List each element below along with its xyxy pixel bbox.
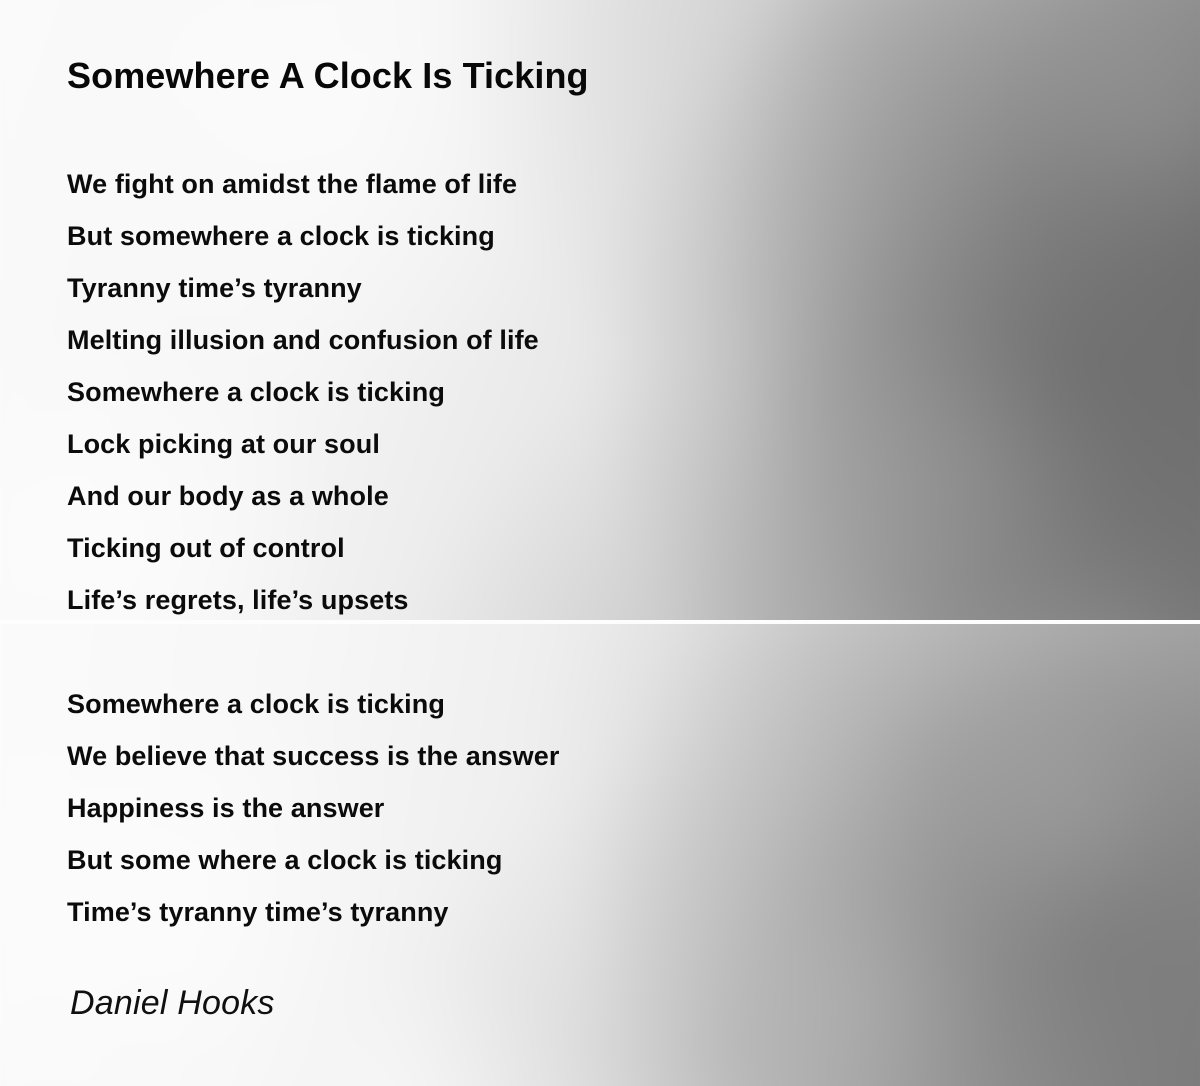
poem-text-layer: Somewhere A Clock Is Ticking We fight on… [0,0,1200,1086]
poem-line: Somewhere a clock is ticking [67,366,539,418]
poem-line: But somewhere a clock is ticking [67,210,539,262]
poem-line: And our body as a whole [67,470,539,522]
poem-title: Somewhere A Clock Is Ticking [67,55,589,97]
poem-author-signature: Daniel Hooks [70,984,275,1023]
poem-line: Happiness is the answer [67,782,559,834]
poem-line: But some where a clock is ticking [67,834,559,886]
poem-line: Life’s regrets, life’s upsets [67,574,539,626]
poem-stanza-2: Somewhere a clock is ticking We believe … [67,678,559,938]
poem-line: Tyranny time’s tyranny [67,262,539,314]
poem-stanza-1: We fight on amidst the flame of life But… [67,158,539,626]
poem-line: Time’s tyranny time’s tyranny [67,886,559,938]
poem-image-card: Somewhere A Clock Is Ticking We fight on… [0,0,1200,1086]
poem-line: We fight on amidst the flame of life [67,158,539,210]
poem-line: We believe that success is the answer [67,730,559,782]
poem-line: Ticking out of control [67,522,539,574]
poem-line: Melting illusion and confusion of life [67,314,539,366]
poem-line: Somewhere a clock is ticking [67,678,559,730]
poem-line: Lock picking at our soul [67,418,539,470]
